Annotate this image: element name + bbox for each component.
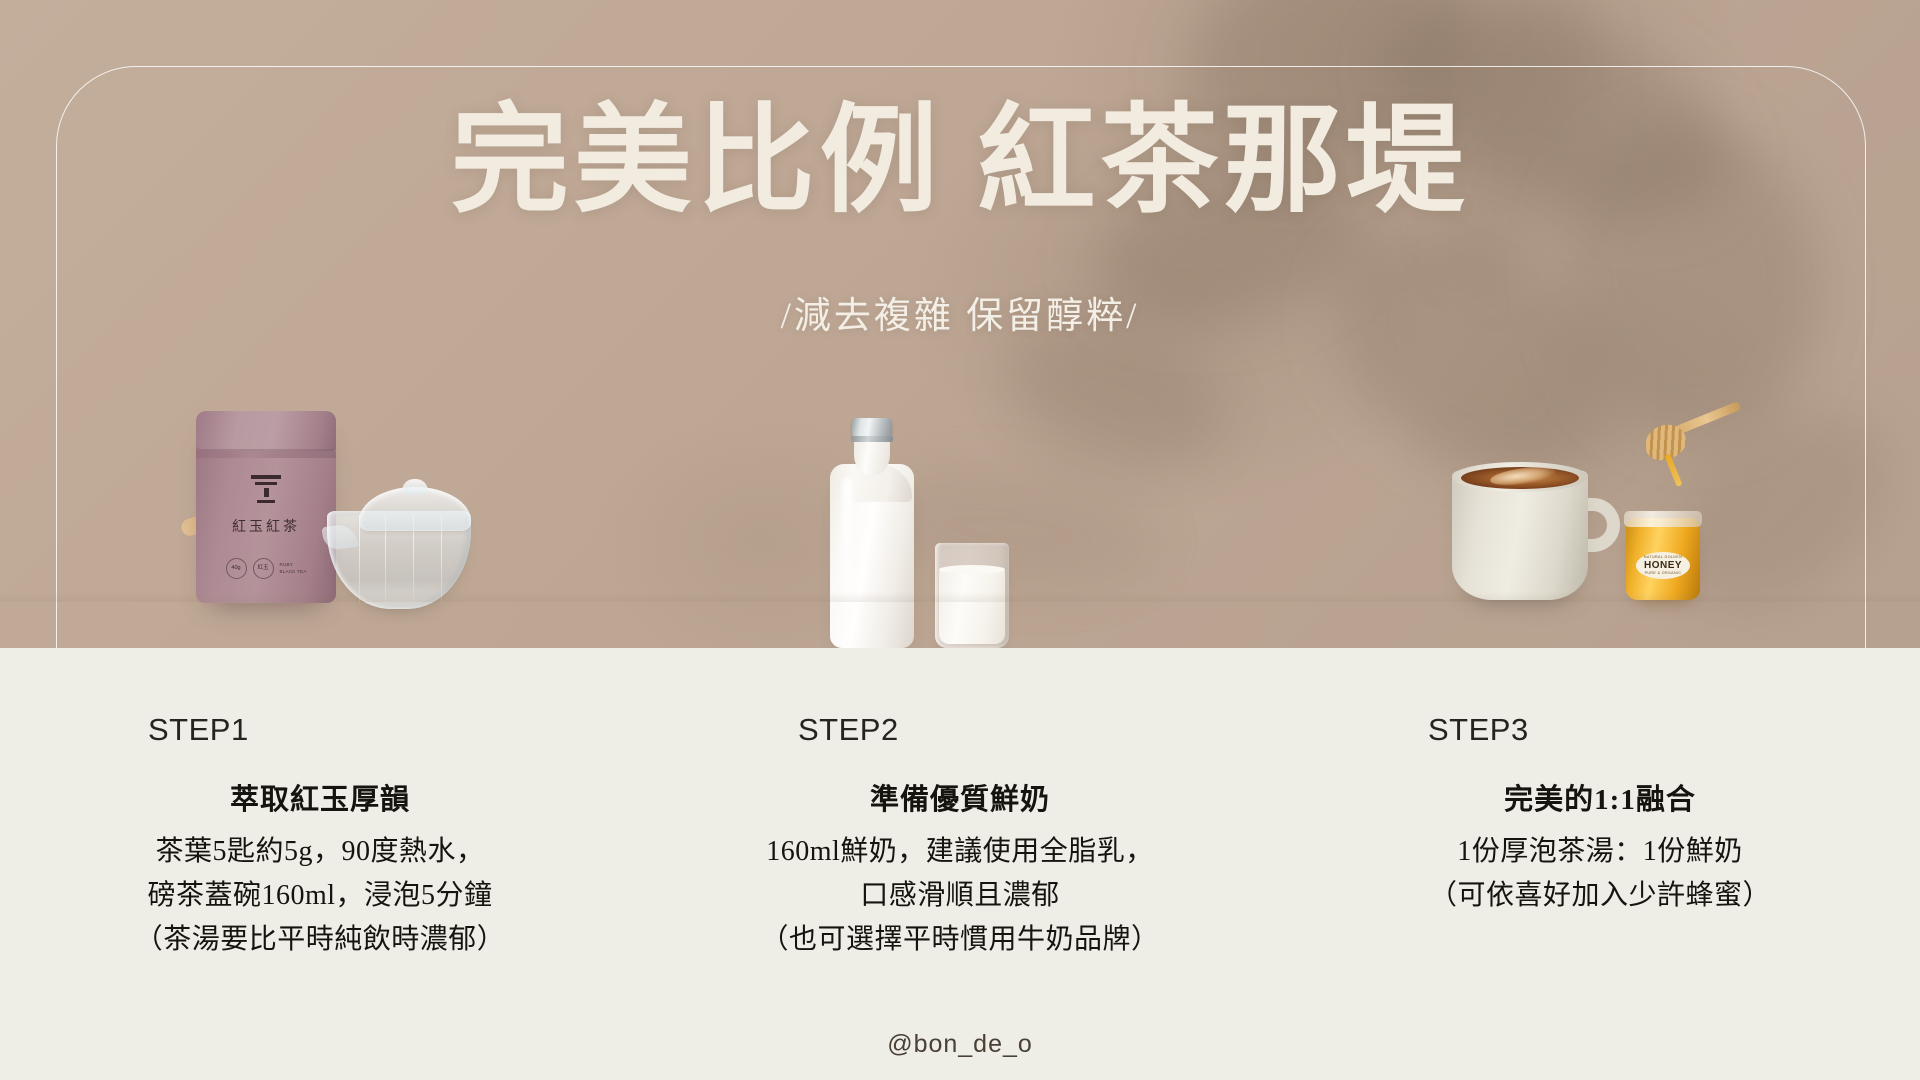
honey-jar-label: NATURAL GOLDEN HONEY PURE & ORGANIC bbox=[1636, 552, 1690, 579]
social-handle: @bon_de_o bbox=[0, 1030, 1920, 1059]
step-card-1: STEP1 萃取紅玉厚韻 茶葉5匙約5g，90度熱水， 磅茶蓋碗160ml，浸泡… bbox=[0, 648, 640, 1080]
step-card-2: STEP2 準備優質鮮奶 160ml鮮奶，建議使用全脂乳， 口感滑順且濃郁 （也… bbox=[640, 648, 1280, 1080]
honey-drip bbox=[1664, 453, 1682, 487]
step-label-1: STEP1 bbox=[0, 712, 640, 748]
honey-dipper-image bbox=[1628, 396, 1755, 498]
canister-lid bbox=[196, 411, 336, 451]
bottle-cap bbox=[852, 418, 892, 437]
step-line: 口感滑順且濃郁 bbox=[640, 874, 1280, 918]
step-label-3: STEP3 bbox=[1280, 712, 1920, 748]
tea-canister-image: 紅玉紅茶 40g 紅玉 RUBY BLACK TEA bbox=[196, 413, 336, 603]
step-card-3: STEP3 完美的1:1融合 1份厚泡茶湯：1份鮮奶 （可依喜好加入少許蜂蜜） bbox=[1280, 648, 1920, 1080]
step-line: （可依喜好加入少許蜂蜜） bbox=[1280, 874, 1920, 918]
steps-section: STEP1 萃取紅玉厚韻 茶葉5匙約5g，90度熱水， 磅茶蓋碗160ml，浸泡… bbox=[0, 648, 1920, 1080]
glass-gaiwan-image bbox=[323, 481, 475, 609]
brand-logo-icon bbox=[251, 475, 281, 501]
canister-weight-badge: 40g bbox=[226, 558, 247, 579]
step-line: 磅茶蓋碗160ml，浸泡5分鐘 bbox=[0, 874, 640, 918]
canister-product-name: 紅玉紅茶 bbox=[196, 516, 336, 536]
step-heading-3: 完美的1:1融合 bbox=[1280, 776, 1920, 818]
gaiwan-knob bbox=[402, 479, 428, 495]
step-line: 1份厚泡茶湯：1份鮮奶 bbox=[1280, 830, 1920, 874]
canister-grade-badge: 紅玉 bbox=[253, 558, 274, 579]
step-label-2: STEP2 bbox=[640, 712, 1280, 748]
milk-bottle-image bbox=[830, 418, 914, 648]
bottle-highlight bbox=[842, 478, 852, 628]
product-stage: 紅玉紅茶 40g 紅玉 RUBY BLACK TEA bbox=[0, 0, 1920, 648]
step-line: （也可選擇平時慣用牛奶品牌） bbox=[640, 918, 1280, 962]
canister-badges: 40g 紅玉 RUBY BLACK TEA bbox=[196, 558, 336, 579]
step-line: 茶葉5匙約5g，90度熱水， bbox=[0, 830, 640, 874]
step-heading-1: 萃取紅玉厚韻 bbox=[0, 776, 640, 818]
step-line: （茶湯要比平時純飲時濃郁） bbox=[0, 918, 640, 962]
step-body-3: 1份厚泡茶湯：1份鮮奶 （可依喜好加入少許蜂蜜） bbox=[1280, 830, 1920, 918]
step-body-1: 茶葉5匙約5g，90度熱水， 磅茶蓋碗160ml，浸泡5分鐘 （茶湯要比平時純飲… bbox=[0, 830, 640, 963]
canister-en-label: RUBY BLACK TEA bbox=[280, 562, 307, 574]
gaiwan-facet bbox=[359, 515, 360, 603]
hero-banner: 完美比例 紅茶那堤 /減去複雜 保留醇粹/ 紅玉紅茶 40g 紅玉 RUBY B… bbox=[0, 0, 1920, 648]
step-heading-2: 準備優質鮮奶 bbox=[640, 776, 1280, 818]
table-shadow bbox=[0, 592, 1920, 602]
honey-jar-image: NATURAL GOLDEN HONEY PURE & ORGANIC bbox=[1626, 505, 1700, 600]
step-line: 160ml鮮奶，建議使用全脂乳， bbox=[640, 830, 1280, 874]
honey-jar-lid bbox=[1624, 511, 1702, 527]
glass-milk-fill bbox=[939, 569, 1005, 644]
step-body-2: 160ml鮮奶，建議使用全脂乳， 口感滑順且濃郁 （也可選擇平時慣用牛奶品牌） bbox=[640, 830, 1280, 963]
tea-mug-image bbox=[1452, 460, 1620, 600]
